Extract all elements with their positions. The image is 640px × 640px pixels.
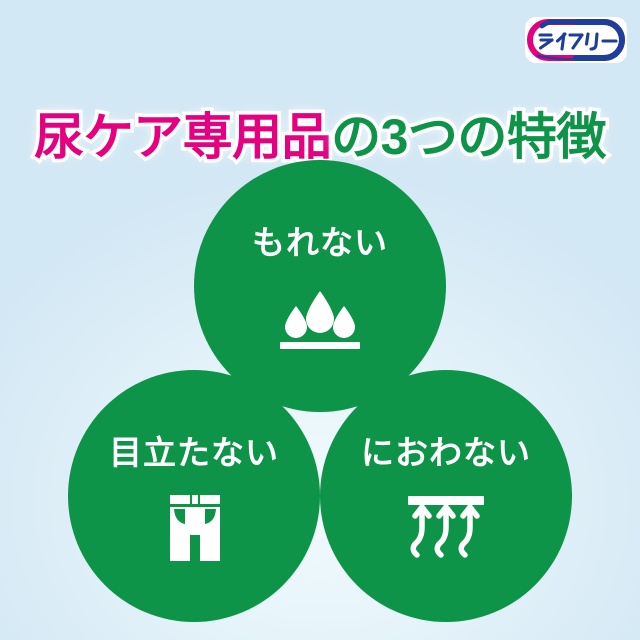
lifree-logo (524, 16, 628, 64)
water-droplets-icon (270, 281, 370, 353)
promo-banner: 尿ケア専用品の3つの特徴 もれない 目立たない (0, 0, 640, 640)
feature-label-discreet: 目立たない (109, 436, 279, 469)
feature-circle-discreet: 目立たない (68, 370, 320, 622)
page-title: 尿ケア専用品の3つの特徴 (0, 108, 640, 166)
feature-circle-no-leak: もれない (194, 160, 446, 412)
feature-circle-no-odor: におわない (320, 370, 572, 622)
page-title-green-part: の3つの特徴 (331, 109, 606, 165)
feature-label-no-odor: におわない (361, 436, 531, 469)
feature-label-no-leak: もれない (252, 226, 388, 259)
shorts-pants-icon (144, 491, 244, 563)
page-title-pink-part: 尿ケア専用品 (34, 109, 331, 165)
odor-block-arrows-icon (396, 491, 496, 563)
